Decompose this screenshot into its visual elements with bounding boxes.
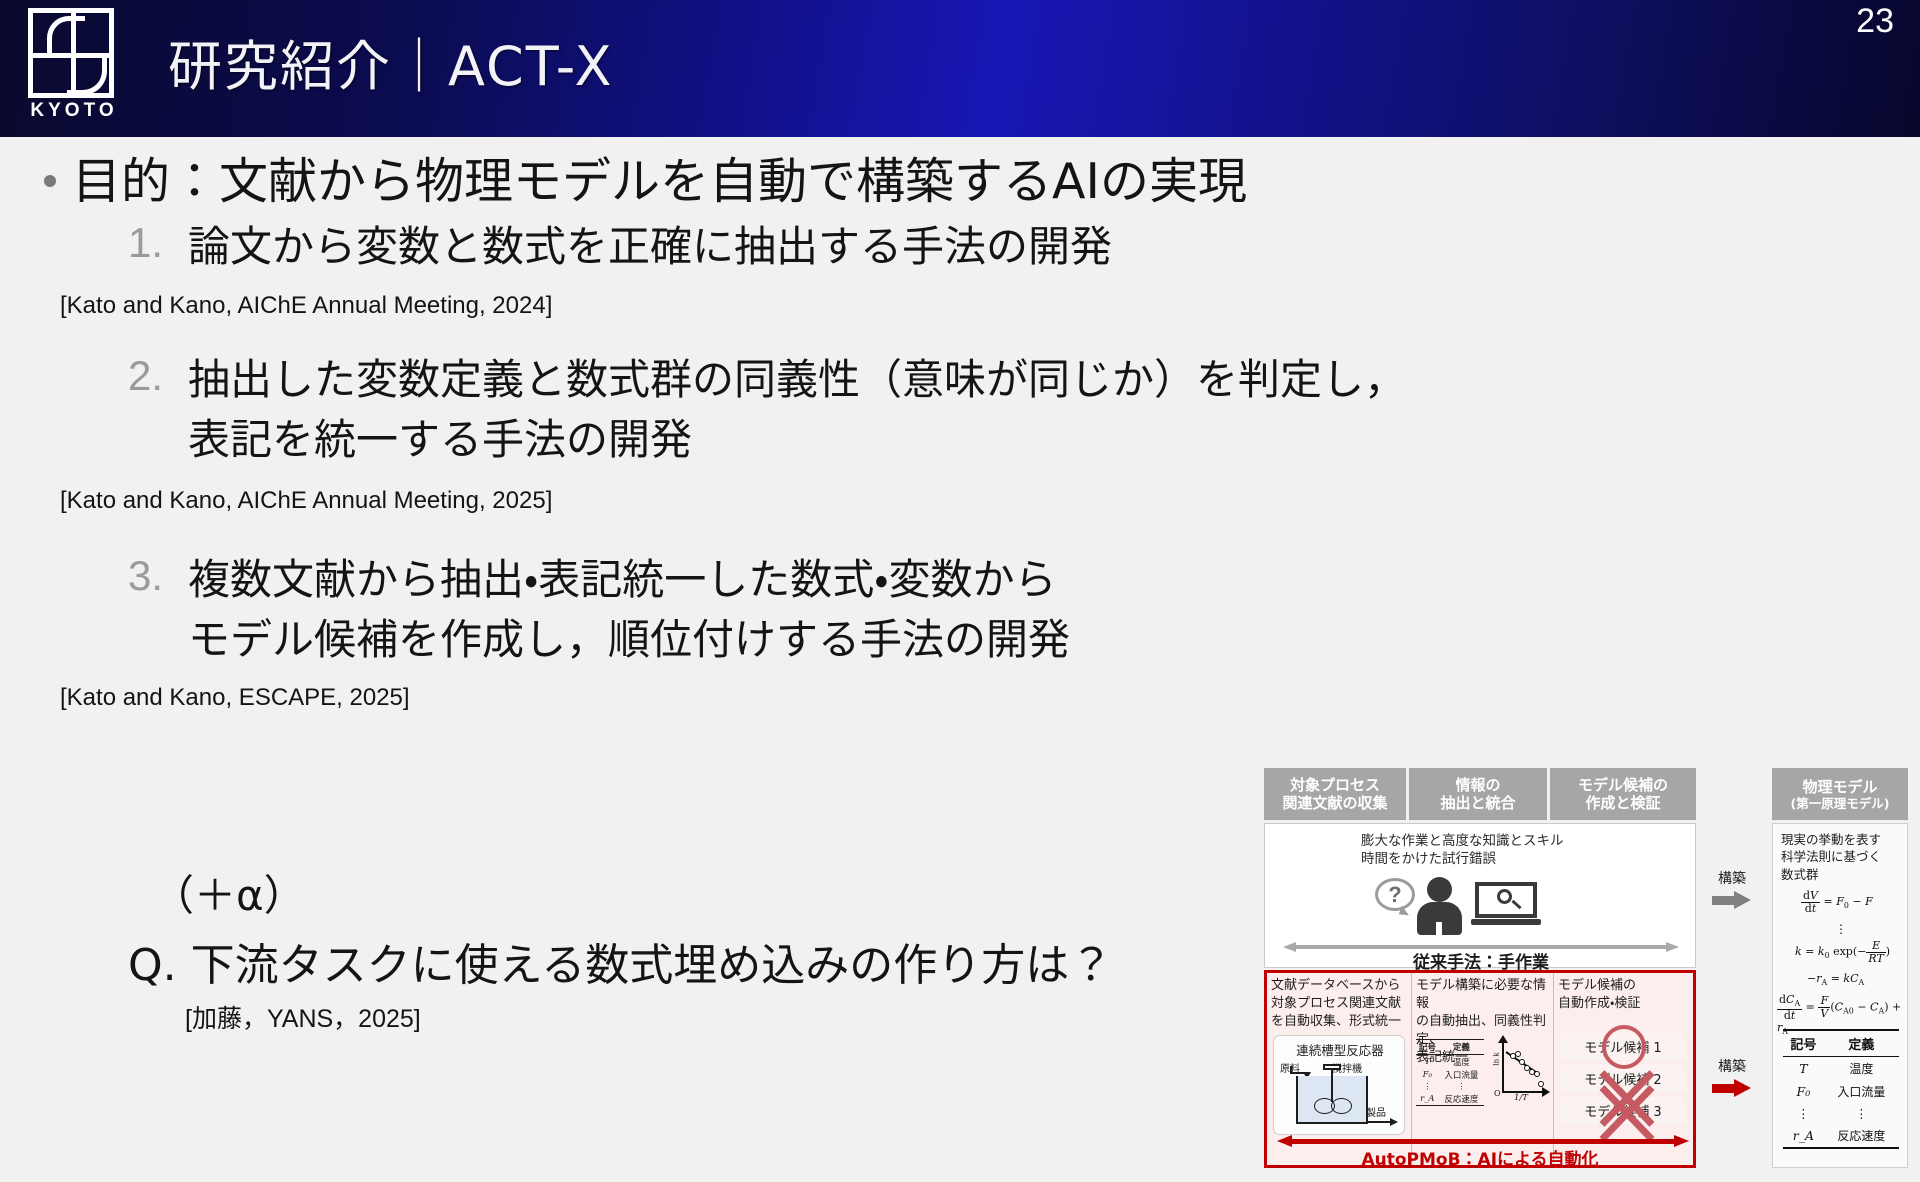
product-pipe-icon (1368, 1121, 1392, 1123)
column-header-line2: 作成と検証 (1578, 794, 1668, 812)
citation: [Kato and Kano, ESCAPE, 2025] (60, 684, 410, 712)
mini-plot-origin: O (1494, 1089, 1501, 1098)
circle-select-icon (1602, 1025, 1646, 1069)
automated-method-box: 文献データベースから 対象プロセス関連文献 を自動収集、形式統一 連続槽型反応器… (1264, 970, 1696, 1168)
main-bullet: 目的：文献から物理モデルを自動で構築するAIの実現 (44, 153, 1294, 211)
auto-col3-description: モデル候補の 自動作成・検証 (1558, 977, 1691, 1013)
page-number: 23 (1856, 2, 1894, 41)
slide-body: 目的：文献から物理モデルを自動で構築するAIの実現 1. 論文から変数と数式を正… (0, 137, 1920, 1080)
equation-arrhenius: k = k0 exp(−ERT) (1795, 940, 1890, 964)
auto-col1-description: 文献データベースから 対象プロセス関連文献 を自動収集、形式統一 (1271, 977, 1409, 1031)
construct-arrow-top: 構築 (1701, 868, 1763, 909)
mini-table-header-symbol: 記号 (1416, 1040, 1439, 1055)
column-header-line1: モデル候補の (1578, 776, 1668, 794)
symbol-definition-table: 記号 定義 T温度 F₀入口流量 ⋮⋮ r_A反応速度 (1783, 1029, 1899, 1149)
citation: [Kato and Kano, AIChE Annual Meeting, 20… (60, 292, 552, 320)
cross-reject-icon (1594, 1097, 1656, 1127)
plus-alpha-label: （＋α） (152, 862, 306, 923)
column-header-extraction: 情報の 抽出と統合 (1409, 768, 1547, 820)
physical-model-subtitle: (第一原理モデル) (1791, 796, 1890, 811)
table-row: ⋮⋮ (1783, 1103, 1899, 1124)
bullet-dot-icon (44, 175, 56, 187)
table-row: F₀入口流量 (1783, 1080, 1899, 1103)
table-row: F₀入口流量 (1416, 1068, 1484, 1081)
arrow-right-icon (1712, 891, 1752, 909)
table-header-symbol: 記号 (1783, 1030, 1824, 1057)
construct-label-top: 構築 (1701, 868, 1763, 888)
reactor-title: 連続槽型反応器 (1274, 1040, 1406, 1059)
impeller-blade-icon (1331, 1098, 1352, 1114)
citation: [Kato and Kano, AIChE Annual Meeting, 20… (60, 487, 552, 515)
table-row: T温度 (1783, 1057, 1899, 1081)
equation-ellipsis: ⋮ (1835, 922, 1847, 936)
physical-model-panel: 物理モデル (第一原理モデル) 現実の挙動を表す 科学法則に基づく 数式群 dV… (1772, 768, 1908, 1168)
mini-plot-ylabel: ln k (1493, 1052, 1501, 1065)
table-row: r_A反応速度 (1783, 1124, 1899, 1148)
citation: [加藤，YANS，2025] (185, 999, 421, 1035)
mini-plot-xlabel: 1/T (1514, 1093, 1528, 1103)
physical-model-header: 物理モデル (第一原理モデル) (1772, 768, 1908, 820)
list-item-number: 1. (128, 219, 184, 267)
workflow-panel: 対象プロセス 関連文献の収集 情報の 抽出と統合 モデル候補の 作成と検証 膨大… (1264, 768, 1696, 1168)
physical-model-title: 物理モデル (1802, 778, 1877, 796)
table-header-definition: 定義 (1824, 1030, 1899, 1057)
main-bullet-text: 目的：文献から物理モデルを自動で構築するAIの実現 (72, 153, 1247, 210)
slide-header: KYOTO 研究紹介｜ACT-X 23 (0, 0, 1920, 137)
equation-rate-law: −rA = kCA (1807, 972, 1864, 987)
reactor-product-label: 製品 (1366, 1104, 1386, 1119)
laptop-search-icon (1475, 882, 1537, 926)
column-header-line1: 対象プロセス (1282, 776, 1387, 794)
mini-table-header-definition: 定義 (1439, 1040, 1484, 1055)
question-bubble-icon: ? (1375, 878, 1415, 911)
list-item-text: 抽出した変数定義と数式群の同義性（意味が同じか）を判定し， 表記を統一する手法の… (188, 350, 1406, 469)
stirrer-shaft-icon (1331, 1068, 1333, 1102)
manual-method-box: 膨大な作業と高度な知識とスキル 時間をかけた試行錯誤 ? 従来手法：手作業 (1264, 823, 1696, 968)
table-row: ⋮⋮ (1416, 1081, 1484, 1092)
product-arrow-icon (1390, 1118, 1398, 1126)
person-body-icon (1417, 902, 1462, 935)
list-item-text: 論文から変数と数式を正確に抽出する手法の開発 (188, 217, 1112, 277)
construct-arrow-bottom: 構築 (1701, 1056, 1763, 1097)
symbol-definition-mini-table: 記号 定義 T温度 F₀入口流量 ⋮⋮ r_A反応速度 (1416, 1039, 1484, 1106)
arrhenius-mini-plot: ln k 1/T O (1488, 1039, 1548, 1107)
page-title: 研究紹介｜ACT-X (168, 22, 614, 101)
reactor-diagram: 連続槽型反応器 原料 撹拌機 製品 (1273, 1035, 1405, 1135)
column-header-collection: 対象プロセス 関連文献の収集 (1264, 768, 1406, 820)
question-line: Q. 下流タスクに使える数式埋め込みの作り方は？ (128, 929, 1113, 993)
physical-model-body: 現実の挙動を表す 科学法則に基づく 数式群 dVdt = F0 − F ⋮ k … (1772, 823, 1908, 1168)
person-head-icon (1427, 877, 1452, 902)
list-item-number: 3. (128, 552, 184, 600)
logo-mark-icon (28, 8, 114, 98)
construct-label-bottom: 構築 (1701, 1056, 1763, 1076)
table-row: T温度 (1416, 1055, 1484, 1069)
column-header-line2: 抽出と統合 (1440, 794, 1515, 812)
column-header-validation: モデル候補の 作成と検証 (1550, 768, 1696, 820)
kyoto-university-logo: KYOTO (22, 8, 126, 130)
list-item-text: 複数文献から抽出・表記統一した数式・変数から モデル候補を作成し，順位付けする手… (188, 550, 1070, 669)
physical-model-description: 現実の挙動を表す 科学法則に基づく 数式群 (1781, 831, 1881, 883)
column-header-line1: 情報の (1440, 776, 1515, 794)
table-row: r_A反応速度 (1416, 1092, 1484, 1106)
manual-note-text: 膨大な作業と高度な知識とスキル 時間をかけた試行錯誤 (1361, 832, 1564, 868)
autopmob-label: AutoPMoB：AIによる自動化 (1267, 1145, 1693, 1170)
logo-wordmark: KYOTO (22, 100, 126, 122)
column-header-line2: 関連文献の収集 (1282, 794, 1387, 812)
autopmob-overview-figure: 対象プロセス 関連文献の収集 情報の 抽出と統合 モデル候補の 作成と検証 膨大… (1264, 768, 1908, 1182)
person-with-laptop-illustration: ? (1375, 874, 1565, 936)
equation-volume-balance: dVdt = F0 − F (1801, 890, 1873, 914)
list-item-number: 2. (128, 352, 184, 400)
arrow-right-icon (1712, 1079, 1752, 1097)
